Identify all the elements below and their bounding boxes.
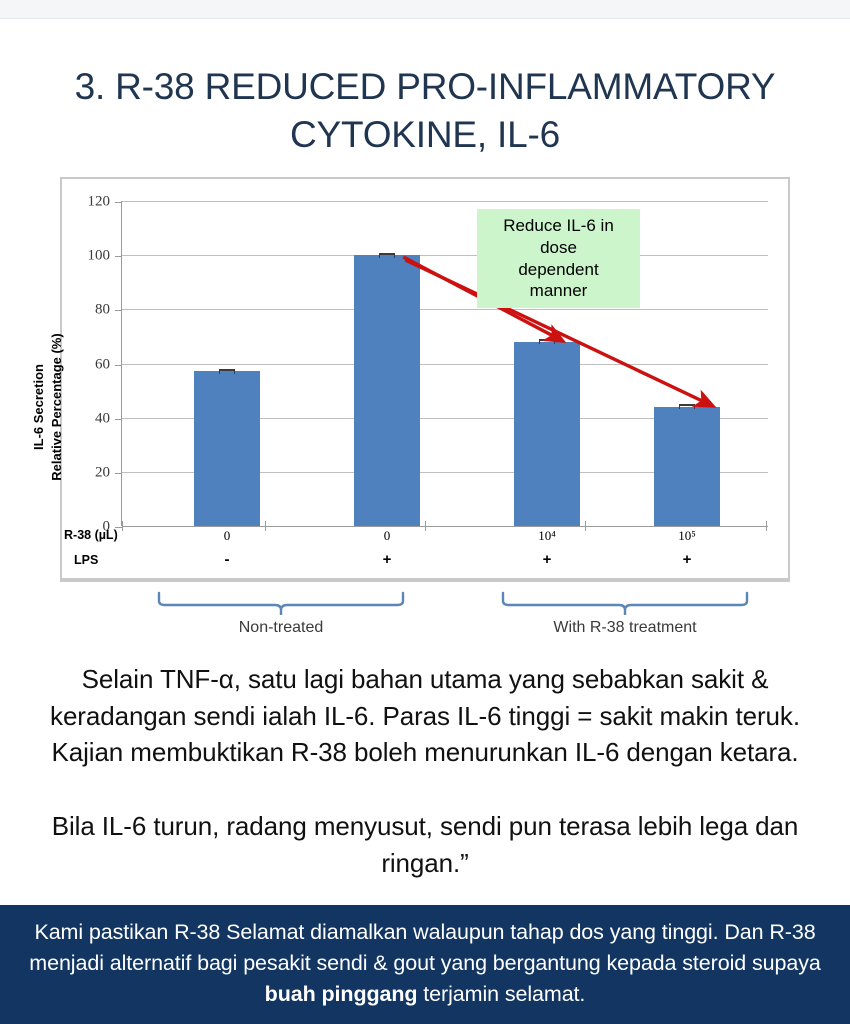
ytick-mark-120	[115, 202, 122, 203]
callout-line-4: manner	[485, 280, 632, 302]
y-axis-label: IL-6 Secretion Relative Percentage (%)	[30, 277, 65, 537]
callout-line-2: dose	[485, 237, 632, 259]
bar-0	[194, 371, 260, 527]
x-axis-row-label-r38: R-38 (µL)	[64, 528, 118, 542]
x-axis-value-r38-3: 10⁵	[627, 528, 747, 544]
group-bracket-label-non-treated: Non-treated	[156, 619, 406, 637]
y-axis-label-line-1: IL-6 Secretion	[30, 277, 48, 537]
ytick-mark-100	[115, 256, 122, 257]
x-axis-table: R-38 (µL) 0 0 10⁴ 10⁵ LPS - + + +	[60, 526, 790, 580]
ytick-mark-20	[115, 473, 122, 474]
ytick-label-100: 100	[88, 248, 111, 265]
x-axis-value-r38-0: 0	[167, 528, 287, 544]
x-axis-value-lps-1: +	[327, 551, 447, 568]
x-axis-row-r38: R-38 (µL) 0 0 10⁴ 10⁵	[60, 526, 790, 552]
footer-text-after: terjamin selamat.	[417, 982, 585, 1006]
error-bar-1	[379, 253, 395, 258]
page-title-line-1: 3. R-38 REDUCED PRO-INFLAMMATORY	[75, 66, 776, 107]
x-axis-row-label-lps: LPS	[74, 553, 98, 567]
page-title-line-2: CYTOKINE, IL-6	[290, 114, 560, 155]
x-axis-value-r38-1: 0	[327, 528, 447, 544]
footer-text-bold: buah pinggang	[265, 982, 418, 1006]
x-axis-row-lps: LPS - + + +	[60, 551, 790, 577]
ytick-label-40: 40	[95, 410, 110, 427]
error-bar-3	[679, 404, 695, 409]
ytick-label-80: 80	[95, 302, 110, 319]
x-axis-value-lps-2: +	[487, 551, 607, 568]
bar-2	[514, 342, 580, 526]
x-axis-separator-4	[766, 521, 767, 531]
callout-line-1: Reduce IL-6 in	[485, 215, 632, 237]
ytick-mark-60	[115, 365, 122, 366]
brace-icon	[500, 591, 750, 617]
group-bracket-with-r38: With R-38 treatment	[500, 591, 750, 637]
ytick-label-20: 20	[95, 464, 110, 481]
brace-icon	[156, 591, 406, 617]
ytick-label-60: 60	[95, 356, 110, 373]
ytick-mark-40	[115, 419, 122, 420]
error-bar-0	[219, 369, 235, 374]
footer-text-before: Kami pastikan R-38 Selamat diamalkan wal…	[29, 920, 820, 975]
il6-bar-chart: IL-6 Secretion Relative Percentage (%) 1…	[60, 177, 790, 587]
group-brackets: Non-treated With R-38 treatment	[60, 591, 790, 657]
y-axis-label-line-2: Relative Percentage (%)	[48, 277, 66, 537]
body-paragraph-2: Bila IL-6 turun, radang menyusut, sendi …	[16, 808, 834, 881]
x-axis-bottom-rule	[60, 578, 790, 580]
body-paragraph-1: Selain TNF-α, satu lagi bahan utama yang…	[16, 661, 834, 770]
bar-series	[122, 201, 768, 526]
group-bracket-label-with-r38: With R-38 treatment	[500, 619, 750, 637]
x-axis-value-lps-3: +	[627, 551, 747, 568]
footer-banner: Kami pastikan R-38 Selamat diamalkan wal…	[0, 905, 850, 1024]
x-axis-value-r38-2: 10⁴	[487, 528, 607, 544]
plot-area: 120 100 80 60 40 20	[122, 201, 768, 526]
error-bar-2	[539, 339, 555, 344]
bar-3	[654, 407, 720, 526]
body-copy: Selain TNF-α, satu lagi bahan utama yang…	[16, 661, 834, 881]
ytick-label-120: 120	[88, 194, 111, 211]
page-title: 3. R-38 REDUCED PRO-INFLAMMATORY CYTOKIN…	[0, 19, 850, 159]
x-axis-value-lps-0: -	[167, 551, 287, 568]
group-bracket-non-treated: Non-treated	[156, 591, 406, 637]
callout-annotation: Reduce IL-6 in dose dependent manner	[477, 209, 640, 308]
ytick-mark-80	[115, 310, 122, 311]
callout-line-3: dependent	[485, 259, 632, 281]
x-axis-separator-0	[122, 521, 123, 531]
slide: 3. R-38 REDUCED PRO-INFLAMMATORY CYTOKIN…	[0, 18, 850, 1024]
bar-1	[354, 255, 420, 526]
